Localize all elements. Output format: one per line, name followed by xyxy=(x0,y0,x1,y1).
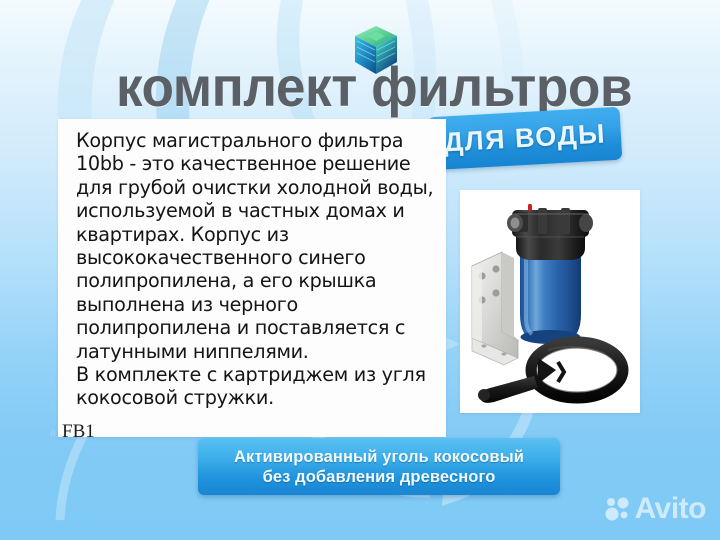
sku-prefix-text: a xyxy=(50,424,56,440)
sku-label: FB1 xyxy=(62,421,95,443)
description-text: Корпус магистрального фильтра 10bb - это… xyxy=(76,129,434,410)
avito-wordmark: Avito xyxy=(635,494,706,524)
avito-dots-icon xyxy=(604,496,630,522)
promo-banner-line-2: без добавления древесного xyxy=(263,467,496,487)
filter-housing-body xyxy=(520,248,581,344)
for-water-badge-label: ДЛЯ ВОДЫ xyxy=(443,118,607,158)
promo-banner: Активированный уголь кокосовый без добав… xyxy=(198,438,560,495)
product-image-card xyxy=(460,190,640,413)
mounting-bracket xyxy=(472,252,518,365)
avito-watermark: Avito xyxy=(604,494,706,524)
product-filter-housing-image xyxy=(460,190,640,413)
for-water-badge: ДЛЯ ВОДЫ xyxy=(428,107,623,171)
promo-banner-line-1: Активированный уголь кокосовый xyxy=(234,447,524,467)
page-title: комплект фильтров xyxy=(116,58,632,116)
description-card: Корпус магистрального фильтра 10bb - это… xyxy=(58,119,446,437)
filter-housing-cap xyxy=(507,204,593,260)
